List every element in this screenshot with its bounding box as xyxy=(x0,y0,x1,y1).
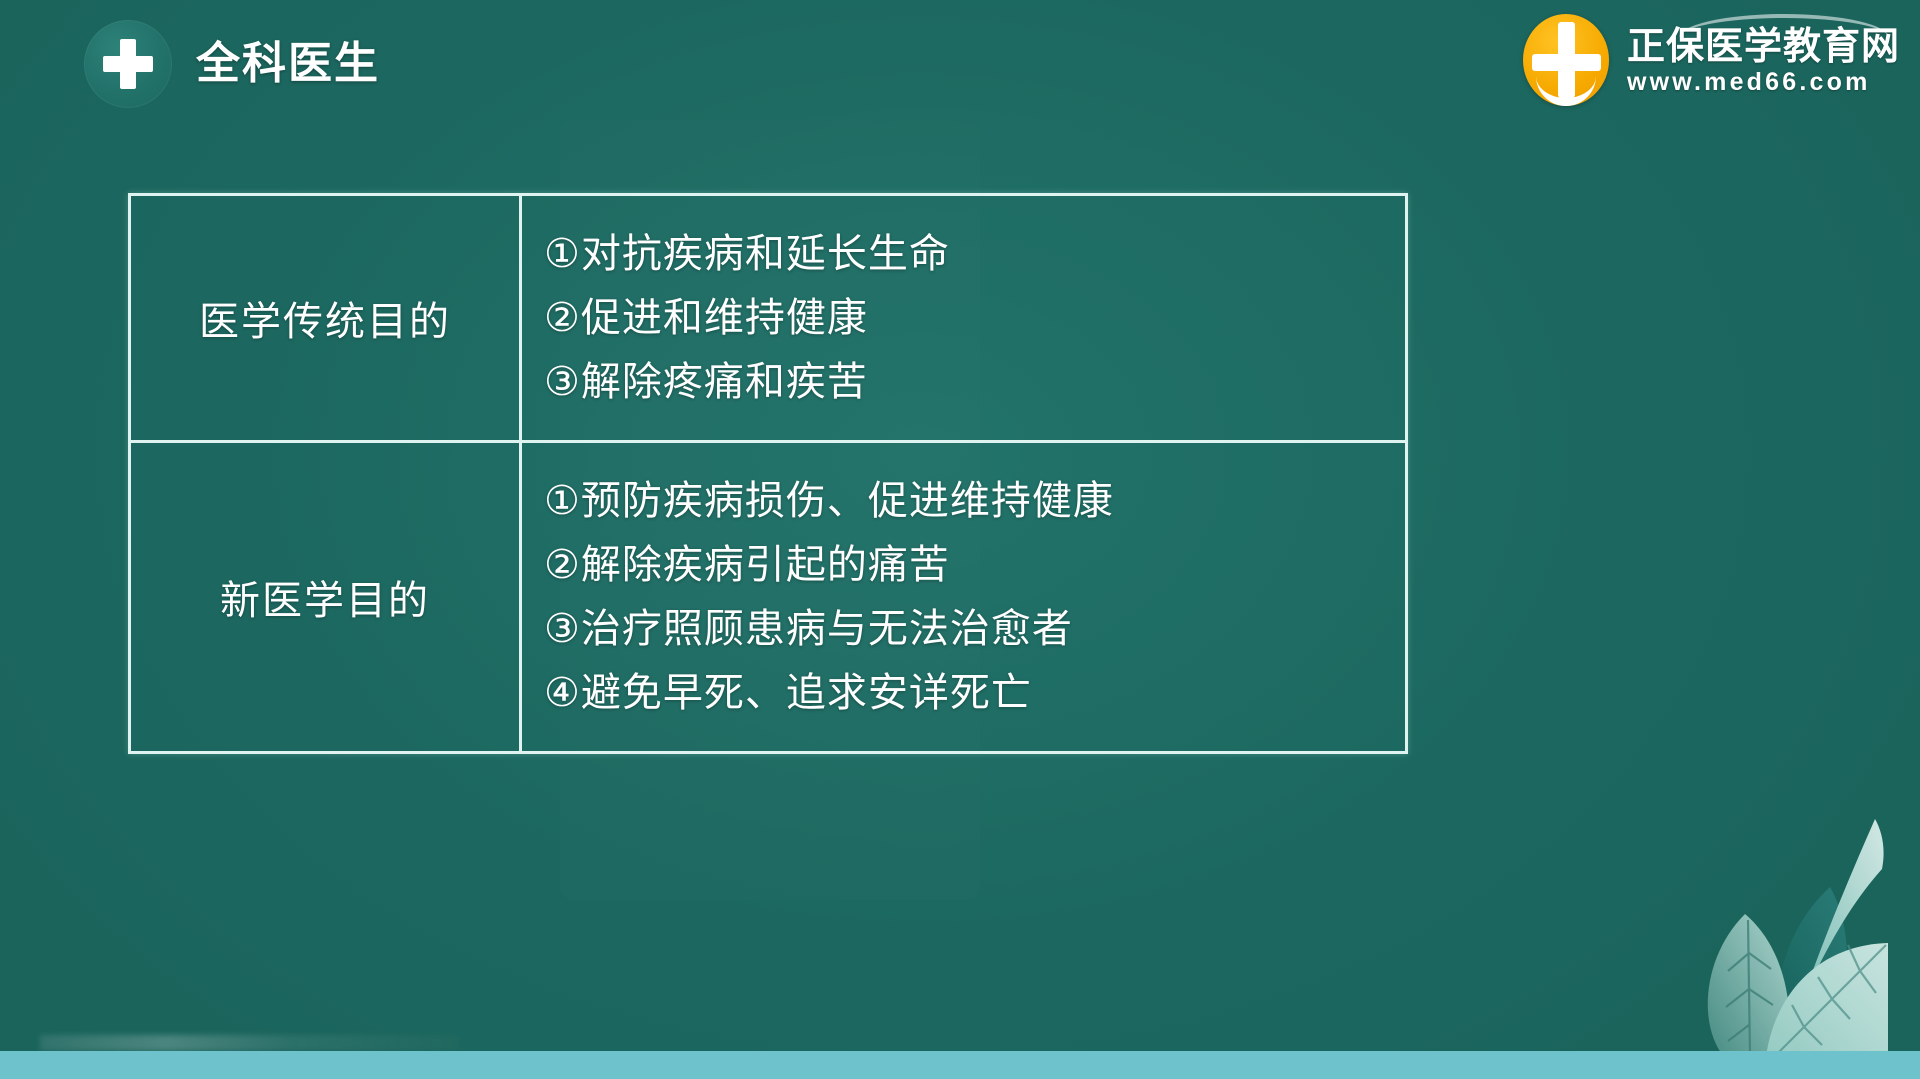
page-title: 全科医生 xyxy=(196,42,380,86)
slide-header: 全科医生 正保医学教育网 www.med66.com xyxy=(0,0,1920,126)
logo-company-name-wrap: 正保医学教育网 xyxy=(1627,27,1900,67)
table-row-label-cell: 医学传统目的 xyxy=(131,196,522,440)
brand-right: 正保医学教育网 www.med66.com xyxy=(1523,14,1900,106)
logo-swoosh-icon xyxy=(1679,14,1889,38)
logo-website-url: www.med66.com xyxy=(1627,69,1900,97)
slide-canvas: 全科医生 正保医学教育网 www.med66.com 医学传统目的 xyxy=(0,0,1920,1079)
list-item: ①预防疾病损伤、促进维持健康 xyxy=(522,469,1405,533)
leaves-icon xyxy=(1670,757,1920,1057)
table-row-label: 新医学目的 xyxy=(220,568,430,626)
bottom-progress-bar[interactable] xyxy=(0,1051,1920,1079)
bottom-overlay-smudge xyxy=(40,1035,460,1051)
list-item: ①对抗疾病和延长生命 xyxy=(522,222,1405,286)
brand-left: 全科医生 xyxy=(84,20,380,108)
medical-cross-icon xyxy=(84,20,172,108)
table-row: 新医学目的 ①预防疾病损伤、促进维持健康 ②解除疾病引起的痛苦 ③治疗照顾患病与… xyxy=(131,440,1405,751)
list-item: ②解除疾病引起的痛苦 xyxy=(522,533,1405,597)
list-item: ④避免早死、追求安详死亡 xyxy=(522,661,1405,725)
content-table: 医学传统目的 ①对抗疾病和延长生命 ②促进和维持健康 ③解除疼痛和疾苦 新医学目… xyxy=(128,193,1408,754)
list-item: ②促进和维持健康 xyxy=(522,286,1405,350)
table-row-label: 医学传统目的 xyxy=(199,289,451,347)
list-item: ③解除疼痛和疾苦 xyxy=(522,350,1405,414)
list-item: ③治疗照顾患病与无法治愈者 xyxy=(522,597,1405,661)
table-row-items-cell: ①对抗疾病和延长生命 ②促进和维持健康 ③解除疼痛和疾苦 xyxy=(522,196,1405,440)
cross-circle-logo-icon xyxy=(1523,14,1609,106)
logo-text-block: 正保医学教育网 www.med66.com xyxy=(1627,23,1900,97)
logo-cross-arc xyxy=(1536,58,1596,106)
table-row: 医学传统目的 ①对抗疾病和延长生命 ②促进和维持健康 ③解除疼痛和疾苦 xyxy=(131,196,1405,440)
table-row-items-cell: ①预防疾病损伤、促进维持健康 ②解除疾病引起的痛苦 ③治疗照顾患病与无法治愈者 … xyxy=(522,443,1405,751)
table-row-label-cell: 新医学目的 xyxy=(131,443,522,751)
